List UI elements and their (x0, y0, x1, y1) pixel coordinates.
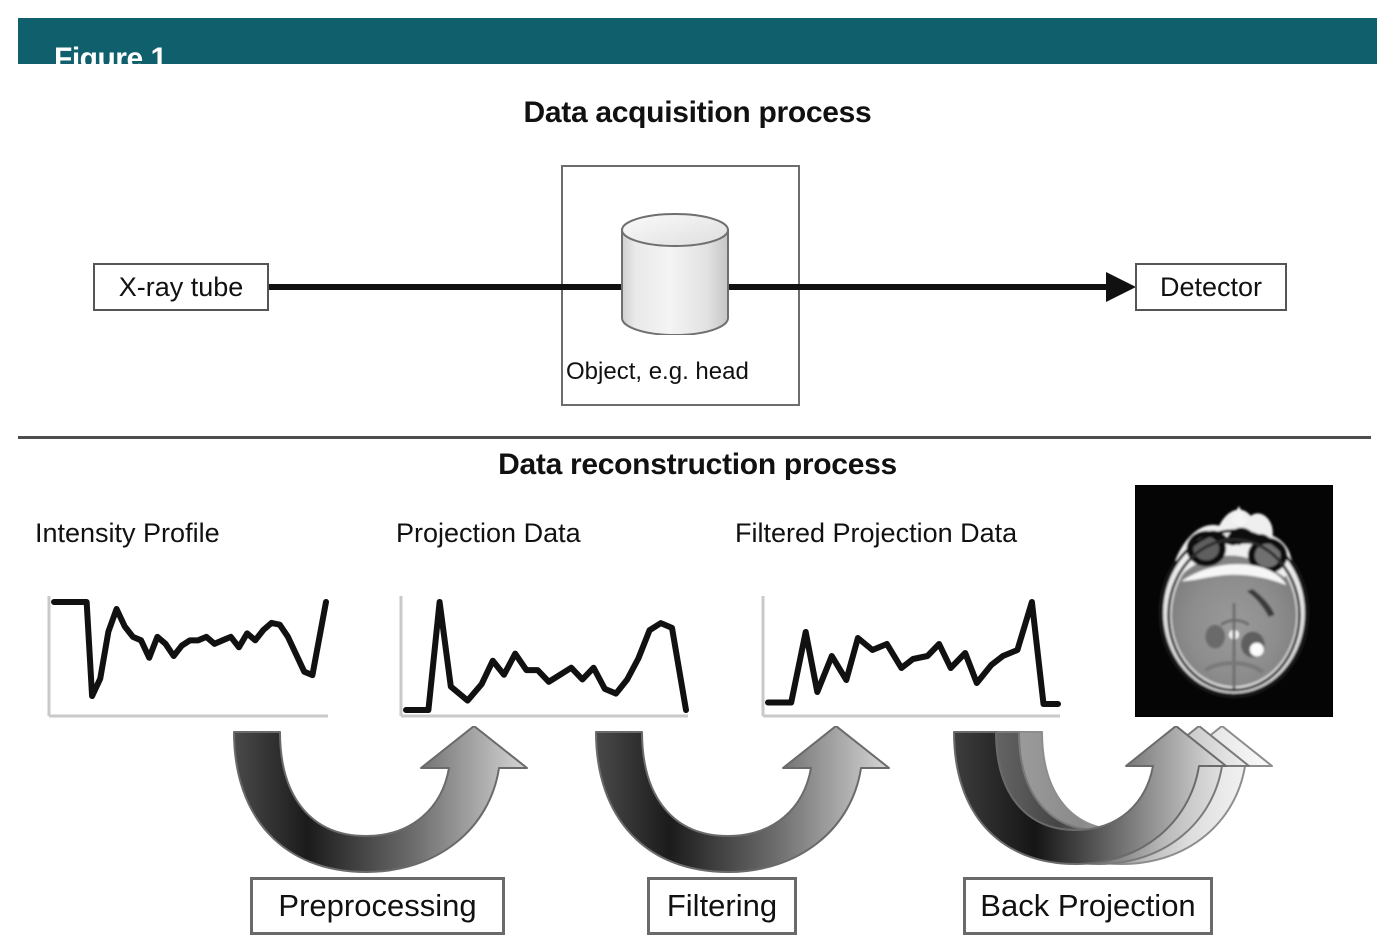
curved-arrow-preprocessing (216, 726, 546, 876)
curved-arrow-filtering (578, 726, 908, 876)
section-divider (18, 436, 1371, 439)
acquisition-section-title: Data acquisition process (0, 96, 1395, 130)
xray-tube-box: X-ray tube (93, 263, 269, 311)
cylinder-object-icon (620, 213, 730, 335)
chart-projection-data (398, 590, 690, 720)
detector-box: Detector (1135, 263, 1287, 311)
figure-banner: Figure 1 (18, 18, 1377, 64)
ct-brain-slice-image (1135, 485, 1333, 717)
beam-arrowhead-icon (1106, 272, 1136, 302)
column-label-intensity-profile: Intensity Profile (35, 518, 220, 549)
reconstruction-section-title: Data reconstruction process (0, 448, 1395, 482)
column-label-projection-data: Projection Data (396, 518, 581, 549)
column-label-filtered-projection-data: Filtered Projection Data (735, 518, 1017, 549)
curved-arrow-back-projection (940, 726, 1300, 876)
object-caption-label: Object, e.g. head (566, 358, 749, 386)
figure-root: Figure 1 Data acquisition process X-ray … (0, 0, 1395, 944)
step-box-filtering: Filtering (647, 877, 797, 935)
step-box-back-projection: Back Projection (963, 877, 1213, 935)
step-box-preprocessing: Preprocessing (250, 877, 505, 935)
figure-number-label: Figure 1 (54, 43, 167, 75)
chart-filtered-projection-data (760, 590, 1062, 720)
chart-intensity-profile (46, 590, 330, 720)
